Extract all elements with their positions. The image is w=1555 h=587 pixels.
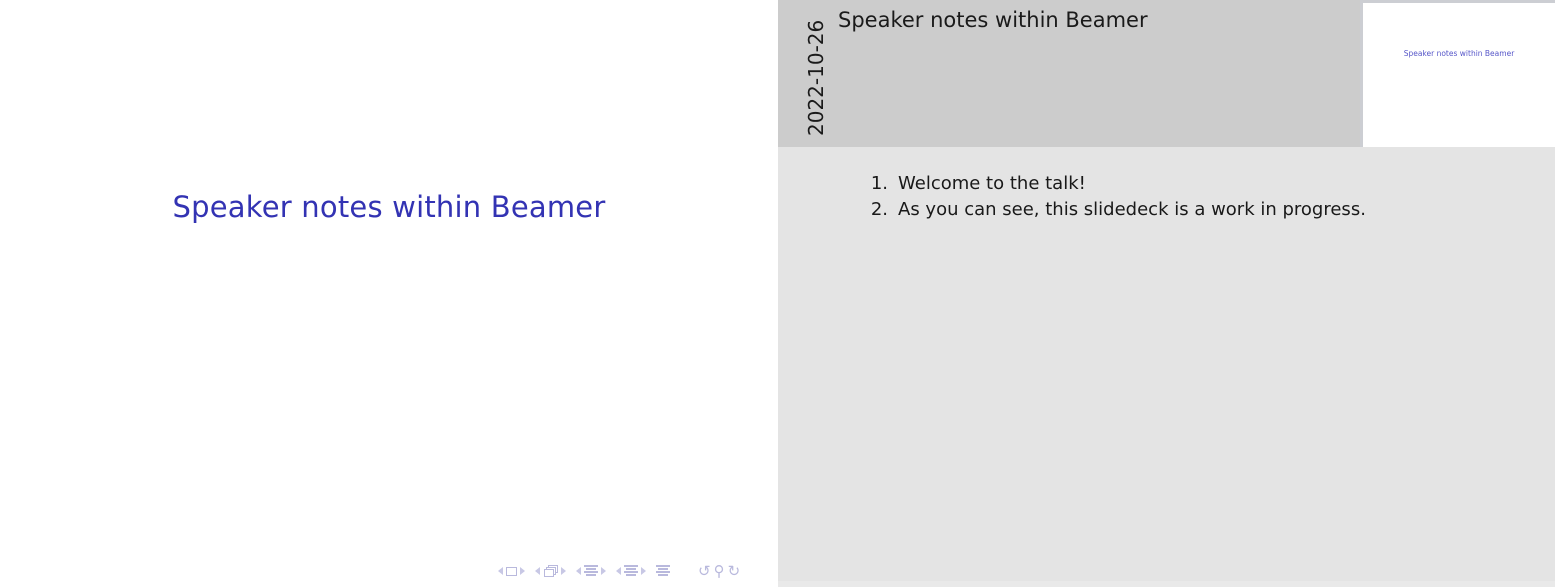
slide-thumbnail-canvas: Speaker notes within Beamer: [1363, 3, 1555, 147]
next-section-arrow-icon[interactable]: [641, 567, 646, 575]
notes-pane: 2022-10-26 Speaker notes within Beamer S…: [778, 0, 1555, 587]
section-navigation-group[interactable]: [616, 565, 646, 577]
notes-header-title: Speaker notes within Beamer: [838, 8, 1148, 32]
presentation-navigation-group[interactable]: [656, 565, 670, 577]
note-number: 1.: [856, 171, 898, 197]
slide-thumbnail[interactable]: Speaker notes within Beamer: [1360, 0, 1555, 147]
slide-title: Speaker notes within Beamer: [0, 190, 778, 224]
notes-body: 1. Welcome to the talk! 2. As you can se…: [778, 147, 1555, 581]
notes-header: 2022-10-26 Speaker notes within Beamer: [778, 0, 1362, 147]
previous-subsection-arrow-icon[interactable]: [576, 567, 581, 575]
beamer-navigation-symbols[interactable]: ↺ ⚲ ↻: [498, 561, 740, 581]
section-document-lines-icon[interactable]: [624, 565, 638, 577]
presentation-document-lines-icon[interactable]: [656, 565, 670, 577]
notes-date: 2022-10-26: [804, 26, 828, 136]
list-item: 2. As you can see, this slidedeck is a w…: [778, 197, 1555, 223]
go-forward-icon[interactable]: ↻: [728, 564, 741, 579]
note-text: As you can see, this slidedeck is a work…: [898, 197, 1366, 223]
slide-pane: Speaker notes within Beamer: [0, 0, 778, 587]
frame-navigation-group[interactable]: [535, 565, 566, 577]
stacked-frames-icon[interactable]: [543, 565, 558, 577]
slide-square-icon[interactable]: [506, 567, 517, 576]
next-slide-arrow-icon[interactable]: [520, 567, 525, 575]
next-frame-arrow-icon[interactable]: [561, 567, 566, 575]
go-back-icon[interactable]: ↺: [698, 564, 711, 579]
slide-navigation-group[interactable]: [498, 567, 525, 576]
notes-list: 1. Welcome to the talk! 2. As you can se…: [778, 147, 1555, 223]
previous-section-arrow-icon[interactable]: [616, 567, 621, 575]
subsection-document-lines-icon[interactable]: [584, 565, 598, 577]
search-icon[interactable]: ⚲: [714, 564, 725, 579]
notes-footer-rule: [778, 581, 1555, 587]
slide-thumbnail-title: Speaker notes within Beamer: [1363, 49, 1555, 58]
beamer-presenter-screen: Speaker notes within Beamer: [0, 0, 1555, 587]
previous-frame-arrow-icon[interactable]: [535, 567, 540, 575]
list-item: 1. Welcome to the talk!: [778, 171, 1555, 197]
history-controls[interactable]: ↺ ⚲ ↻: [698, 564, 740, 579]
next-subsection-arrow-icon[interactable]: [601, 567, 606, 575]
previous-slide-arrow-icon[interactable]: [498, 567, 503, 575]
note-text: Welcome to the talk!: [898, 171, 1086, 197]
subsection-navigation-group[interactable]: [576, 565, 606, 577]
note-number: 2.: [856, 197, 898, 223]
